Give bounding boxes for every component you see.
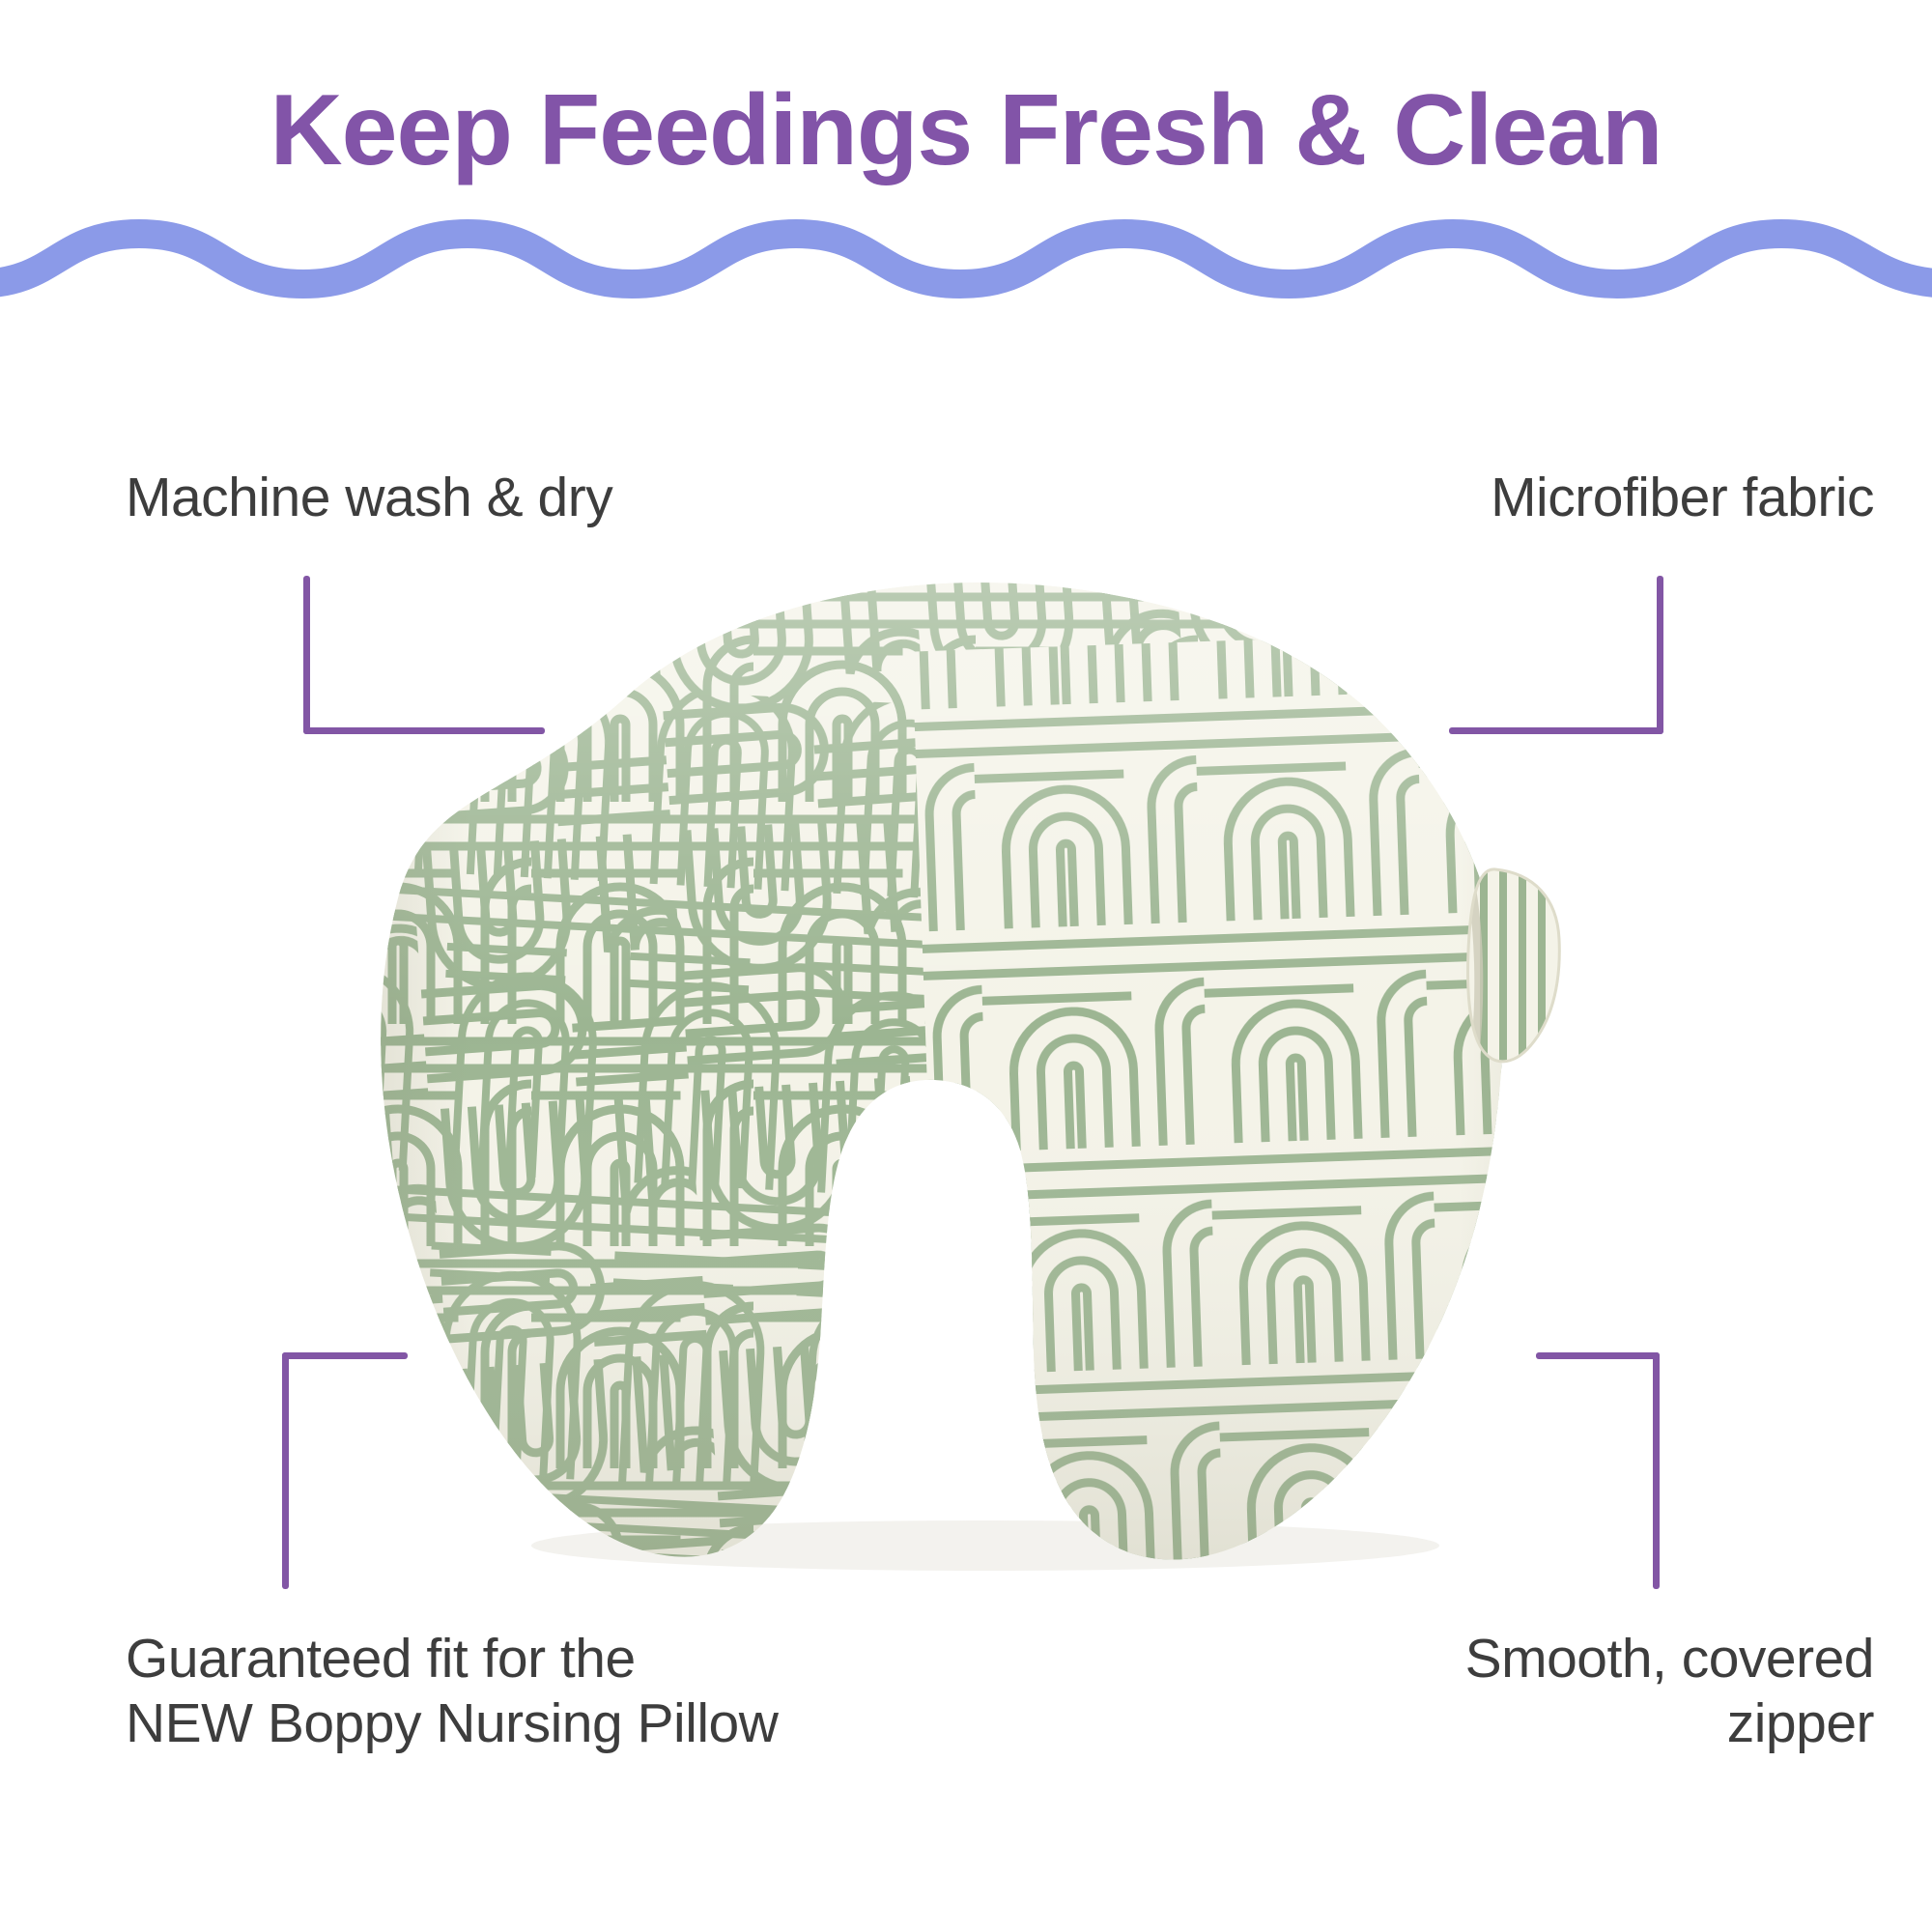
pillow-body bbox=[309, 580, 1662, 1575]
callout-label-microfiber: Microfiber fabric bbox=[1491, 466, 1874, 530]
infographic-canvas: Keep Feedings Fresh & Clean Machine wash… bbox=[0, 0, 1932, 1932]
callout-label-guaranteed-fit: Guaranteed fit for the NEW Boppy Nursing… bbox=[126, 1627, 778, 1755]
wave-path bbox=[0, 234, 1932, 284]
product-image-nursing-pillow bbox=[309, 580, 1662, 1575]
page-title: Keep Feedings Fresh & Clean bbox=[0, 75, 1932, 185]
leader-segment-vertical bbox=[282, 1352, 289, 1589]
callout-label-machine-wash: Machine wash & dry bbox=[126, 466, 612, 530]
callout-label-zipper: Smooth, covered zipper bbox=[1465, 1627, 1874, 1755]
wave-divider bbox=[0, 213, 1932, 328]
